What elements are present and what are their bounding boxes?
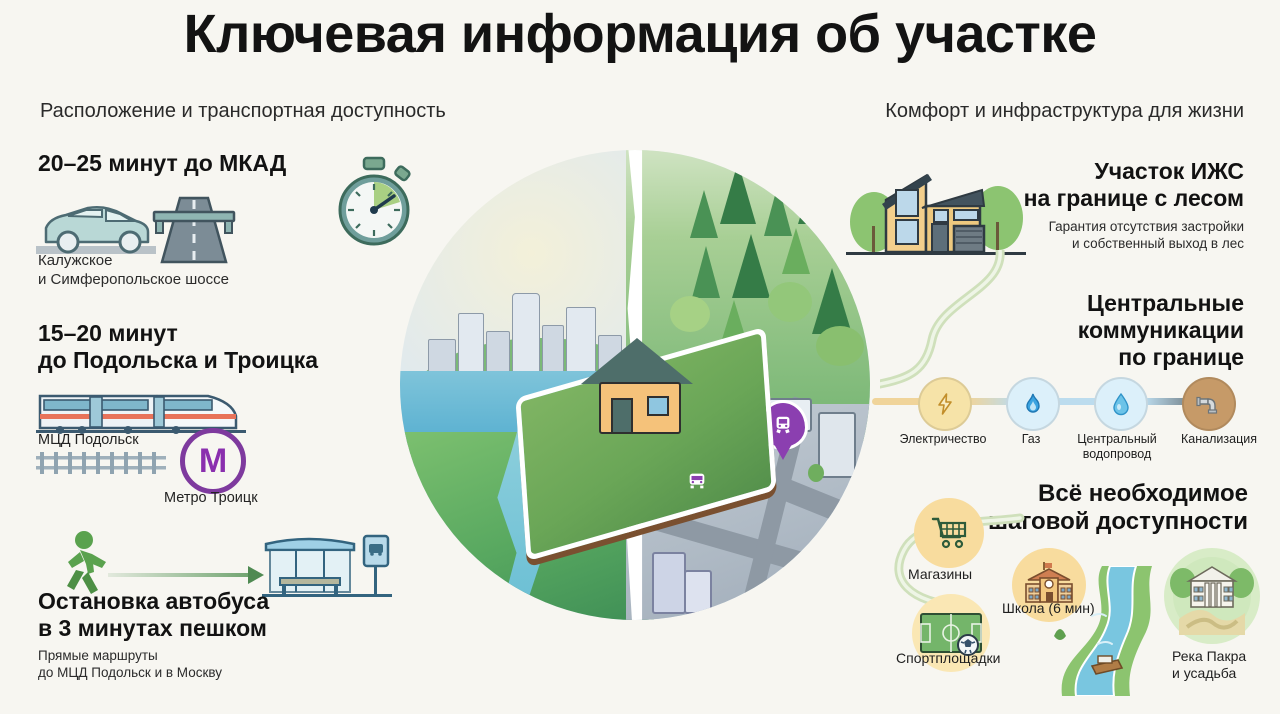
- house-icon: [585, 338, 689, 430]
- office-building-icon: [818, 412, 856, 478]
- podolsk-heading-line2: до Подольска и Троицка: [38, 347, 358, 374]
- utility-electricity-icon: [918, 377, 972, 431]
- bush-icon: [768, 282, 812, 322]
- plot-caption-line1: Гарантия отсутствия застройки: [924, 219, 1244, 236]
- river-illustration: [1032, 566, 1178, 696]
- amenity-manor-label-line1: Река Пакра: [1172, 648, 1246, 665]
- plot-heading-line1: Участок ИЖС: [924, 158, 1244, 185]
- metro-station-label: Метро Троицк: [164, 490, 258, 506]
- tree-icon: [720, 162, 756, 224]
- metro-glyph: М: [199, 444, 227, 478]
- amenity-manor-label: Река Пакра и усадьба: [1172, 648, 1246, 682]
- utilities-heading-line1: Центральные: [944, 290, 1244, 317]
- page-title: Ключевая информация об участке: [0, 6, 1280, 63]
- right-block-utilities-heading: Центральные коммуникации по границе: [944, 290, 1244, 371]
- bus-heading-line2: в 3 минутах пешком: [38, 615, 378, 642]
- apartment-icon: [684, 570, 712, 614]
- utilities-heading-line2: коммуникации: [944, 317, 1244, 344]
- utility-sewerage-label: Канализация: [1164, 432, 1274, 447]
- right-block-plot: Участок ИЖС на границе с лесом Гарантия …: [924, 158, 1244, 253]
- bus-caption-line1: Прямые маршруты: [38, 648, 378, 665]
- plot-caption-line2: и собственный выход в лес: [924, 236, 1244, 253]
- tree-icon: [808, 464, 824, 482]
- mkad-caption-line2: и Симферопольское шоссе: [38, 271, 338, 290]
- amenity-manor-label-line2: и усадьба: [1172, 665, 1246, 682]
- amenity-shops-label: Магазины: [908, 566, 972, 583]
- walk-arrow-line: [108, 573, 258, 577]
- left-block-podolsk: 15–20 минут до Подольска и Троицка: [38, 320, 358, 374]
- land-plot-hero-illustration: [400, 150, 870, 620]
- train-station-label: МЦД Подольск: [38, 432, 139, 448]
- tree-icon: [812, 268, 852, 334]
- apartment-icon: [652, 552, 686, 614]
- utility-water-label: Центральный водопровод: [1062, 432, 1172, 462]
- utility-water-label-line2: водопровод: [1062, 447, 1172, 462]
- amenity-sports-label: Спортплощадки: [896, 650, 1000, 667]
- utilities-heading-line3: по границе: [944, 344, 1244, 371]
- left-block-mkad: 20–25 минут до МКАД: [38, 150, 338, 177]
- house-body: [599, 382, 681, 434]
- manor-river-icon: [1164, 548, 1260, 644]
- mkad-caption-line1: Калужское: [38, 252, 338, 271]
- plot-heading-line2: на границе с лесом: [924, 185, 1244, 212]
- tree-icon: [782, 228, 810, 274]
- utility-sewerage-icon: [1182, 377, 1236, 431]
- podolsk-heading-line1: 15–20 минут: [38, 320, 358, 347]
- tree-icon: [732, 234, 770, 298]
- utility-water-icon: [1094, 377, 1148, 431]
- mkad-heading: 20–25 минут до МКАД: [38, 150, 338, 177]
- bush-icon: [670, 296, 710, 332]
- house-door: [611, 398, 633, 434]
- railway-icon: [36, 450, 166, 476]
- tree-icon: [690, 190, 718, 238]
- house-window: [647, 396, 669, 416]
- utility-gas-icon: [1006, 377, 1060, 431]
- house-roof: [581, 338, 693, 384]
- car-icon: [36, 196, 156, 258]
- bus-caption-line2: до МЦД Подольск и в Москву: [38, 665, 378, 682]
- right-section-subtitle: Комфорт и инфраструктура для жизни: [885, 100, 1244, 123]
- mkad-caption: Калужское и Симферопольское шоссе: [38, 252, 338, 290]
- shopping-cart-icon: [914, 498, 984, 568]
- left-block-bus: Остановка автобуса в 3 минутах пешком Пр…: [38, 588, 378, 682]
- infographic-canvas: Ключевая информация об участке Расположе…: [0, 0, 1280, 714]
- bus-heading-line1: Остановка автобуса: [38, 588, 378, 615]
- bush-icon: [816, 326, 864, 366]
- stopwatch-icon: [324, 152, 424, 252]
- metro-logo-icon: М: [180, 428, 246, 494]
- utility-water-label-line1: Центральный: [1062, 432, 1172, 447]
- tree-icon: [692, 246, 720, 298]
- tree-icon: [798, 168, 832, 224]
- left-section-subtitle: Расположение и транспортная доступность: [40, 100, 446, 123]
